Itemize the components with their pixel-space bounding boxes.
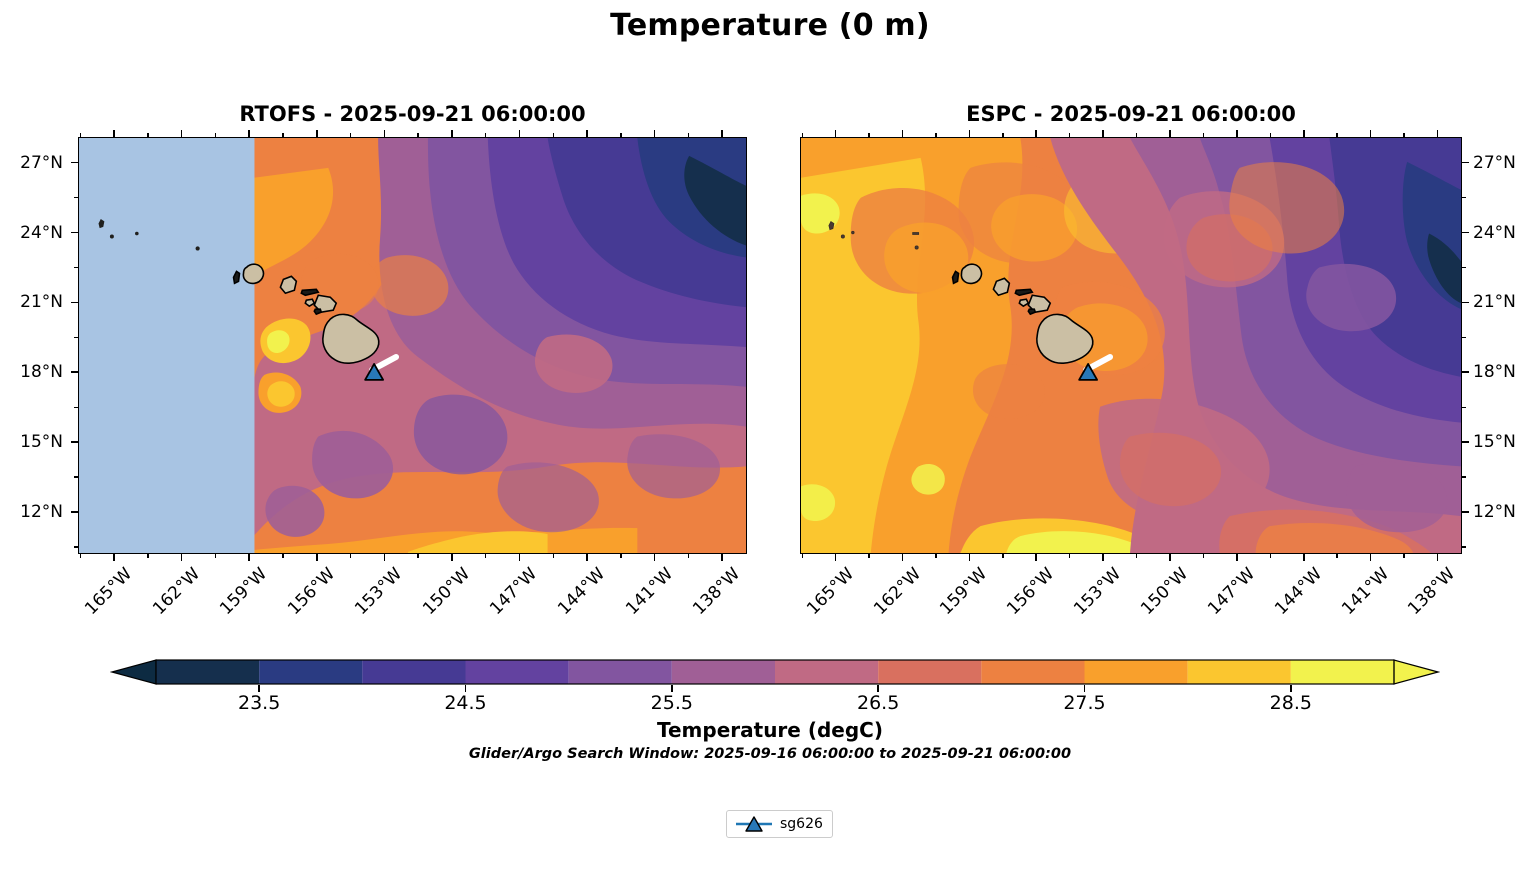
colorbar-extend-max: [1394, 660, 1438, 684]
xtick-minor-top-rtofs: [485, 133, 486, 137]
ytick-label-rtofs-4: 15°N: [0, 432, 63, 452]
panel-title-rtofs: RTOFS - 2025-09-21 06:00:00: [78, 102, 747, 126]
ytick-label-espc-5: 12°N: [1473, 502, 1540, 522]
xtick-minor-bottom-rtofs: [147, 554, 148, 558]
xtick-minor-top-rtofs: [417, 133, 418, 137]
xtick-minor-bottom-espc: [1203, 554, 1204, 558]
colorbar-tick-3: [877, 685, 879, 692]
xtick-minor-top-espc: [1270, 133, 1271, 137]
xtick-major-bottom-rtofs-2: [248, 554, 250, 561]
ytick-major-espc-2: [1462, 302, 1469, 304]
xtick-minor-bottom-rtofs: [215, 554, 216, 558]
colorbar-band-1: [259, 660, 362, 684]
xtick-minor-bottom-rtofs: [282, 554, 283, 558]
xtick-major-bottom-espc-1: [902, 554, 904, 561]
xtick-minor-bottom-espc: [868, 554, 869, 558]
colorbar-tick-label-0: 23.5: [238, 692, 280, 714]
xtick-major-bottom-espc-7: [1303, 554, 1305, 561]
ytick-major-espc-5: [1462, 511, 1469, 513]
ytick-major-rtofs-4: [71, 441, 78, 443]
xtick-minor-bottom-espc: [802, 554, 803, 558]
ytick-label-espc-0: 27°N: [1473, 153, 1540, 173]
xtick-major-bottom-espc-4: [1102, 554, 1104, 561]
xtick-minor-bottom-rtofs: [80, 554, 81, 558]
xtick-major-bottom-espc-6: [1236, 554, 1238, 561]
legend[interactable]: sg626: [726, 810, 833, 838]
ytick-major-rtofs-3: [71, 371, 78, 373]
xtick-minor-bottom-rtofs: [688, 554, 689, 558]
xtick-major-bottom-espc-5: [1169, 554, 1171, 561]
ytick-minor-espc: [1462, 197, 1466, 198]
ytick-minor-rtofs: [74, 407, 78, 408]
xtick-major-top-espc-7: [1303, 130, 1305, 137]
xtick-major-bottom-espc-0: [835, 554, 837, 561]
colorbar-extend-min: [112, 660, 156, 684]
xtick-minor-bottom-rtofs: [620, 554, 621, 558]
xtick-major-top-rtofs-0: [113, 130, 115, 137]
xtick-minor-top-espc: [1203, 133, 1204, 137]
colorbar-band-8: [981, 660, 1084, 684]
ytick-label-rtofs-5: 12°N: [0, 502, 63, 522]
ytick-label-rtofs-0: 27°N: [0, 153, 63, 173]
xtick-minor-top-espc: [868, 133, 869, 137]
xtick-minor-bottom-espc: [1069, 554, 1070, 558]
colorbar-tick-5: [1290, 685, 1292, 692]
xtick-major-top-espc-2: [969, 130, 971, 137]
xtick-major-top-espc-5: [1169, 130, 1171, 137]
xtick-minor-top-rtofs: [282, 133, 283, 137]
xtick-major-top-espc-0: [835, 130, 837, 137]
colorbar[interactable]: [110, 659, 1440, 685]
ytick-minor-espc: [1462, 476, 1466, 477]
xtick-major-bottom-espc-3: [1035, 554, 1037, 561]
xtick-major-bottom-rtofs-3: [316, 554, 318, 561]
ytick-minor-espc: [1462, 546, 1466, 547]
legend-label-sg626: sg626: [780, 816, 823, 832]
xtick-major-top-espc-4: [1102, 130, 1104, 137]
xtick-major-top-espc-8: [1370, 130, 1372, 137]
xtick-major-top-rtofs-8: [654, 130, 656, 137]
xtick-major-top-espc-6: [1236, 130, 1238, 137]
colorbar-tick-4: [1084, 685, 1086, 692]
xtick-minor-bottom-rtofs: [417, 554, 418, 558]
xtick-minor-top-rtofs: [350, 133, 351, 137]
colorbar-band-4: [569, 660, 672, 684]
colorbar-band-7: [878, 660, 981, 684]
xtick-minor-top-rtofs: [215, 133, 216, 137]
xtick-minor-bottom-rtofs: [485, 554, 486, 558]
figure-canvas: Temperature (0 m) RTOFS - 2025-09-21 06:…: [0, 0, 1540, 889]
xtick-minor-bottom-rtofs: [553, 554, 554, 558]
xtick-minor-top-espc: [802, 133, 803, 137]
xtick-minor-top-espc: [1403, 133, 1404, 137]
ytick-minor-espc: [1462, 267, 1466, 268]
colorbar-tick-label-5: 28.5: [1270, 692, 1312, 714]
ytick-label-espc-3: 18°N: [1473, 362, 1540, 382]
xtick-minor-bottom-rtofs: [350, 554, 351, 558]
xtick-major-top-rtofs-3: [316, 130, 318, 137]
search-window-text: Glider/Argo Search Window: 2025-09-16 06…: [0, 746, 1540, 762]
ytick-major-espc-3: [1462, 371, 1469, 373]
colorbar-tick-label-4: 27.5: [1063, 692, 1105, 714]
xtick-major-top-rtofs-9: [721, 130, 723, 137]
xtick-minor-bottom-espc: [1336, 554, 1337, 558]
xtick-minor-top-rtofs: [620, 133, 621, 137]
xtick-minor-bottom-espc: [1002, 554, 1003, 558]
ytick-label-rtofs-3: 18°N: [0, 362, 63, 382]
xtick-minor-bottom-espc: [1136, 554, 1137, 558]
xtick-major-top-rtofs-5: [451, 130, 453, 137]
xtick-major-top-rtofs-1: [181, 130, 183, 137]
ytick-label-espc-4: 15°N: [1473, 432, 1540, 452]
colorbar-svg: [110, 659, 1440, 685]
panel-title-espc: ESPC - 2025-09-21 06:00:00: [800, 102, 1462, 126]
colorbar-band-5: [672, 660, 775, 684]
ytick-minor-rtofs: [74, 546, 78, 547]
rtofs-temperature-field: [79, 138, 746, 553]
colorbar-tick-label-1: 24.5: [444, 692, 486, 714]
ytick-label-espc-2: 21°N: [1473, 292, 1540, 312]
xtick-major-top-rtofs-6: [519, 130, 521, 137]
rtofs-map-svg: [79, 138, 746, 553]
ytick-minor-espc: [1462, 407, 1466, 408]
xtick-minor-bottom-espc: [1403, 554, 1404, 558]
xtick-minor-top-rtofs: [147, 133, 148, 137]
xtick-minor-top-rtofs: [553, 133, 554, 137]
xtick-minor-top-espc: [935, 133, 936, 137]
xtick-major-bottom-rtofs-6: [519, 554, 521, 561]
ytick-major-rtofs-2: [71, 302, 78, 304]
ytick-label-rtofs-2: 21°N: [0, 292, 63, 312]
xtick-major-bottom-rtofs-4: [384, 554, 386, 561]
page-title: Temperature (0 m): [0, 8, 1540, 43]
map-panel-rtofs[interactable]: [78, 137, 747, 554]
xtick-major-top-rtofs-7: [586, 130, 588, 137]
ytick-major-rtofs-5: [71, 511, 78, 513]
xtick-minor-top-espc: [1336, 133, 1337, 137]
espc-temperature-field: [801, 138, 1461, 553]
xtick-major-top-espc-3: [1035, 130, 1037, 137]
ytick-minor-rtofs: [74, 337, 78, 338]
xtick-major-bottom-espc-2: [969, 554, 971, 561]
xtick-major-bottom-rtofs-8: [654, 554, 656, 561]
xtick-major-top-rtofs-4: [384, 130, 386, 137]
ytick-major-espc-4: [1462, 441, 1469, 443]
colorbar-band-2: [362, 660, 465, 684]
xtick-major-bottom-espc-8: [1370, 554, 1372, 561]
ytick-major-espc-1: [1462, 232, 1469, 234]
colorbar-band-6: [775, 660, 878, 684]
ytick-major-rtofs-1: [71, 232, 78, 234]
xtick-minor-bottom-espc: [935, 554, 936, 558]
xtick-major-top-rtofs-2: [248, 130, 250, 137]
xtick-major-bottom-espc-9: [1437, 554, 1439, 561]
ytick-label-rtofs-1: 24°N: [0, 223, 63, 243]
xtick-minor-top-rtofs: [80, 133, 81, 137]
xtick-major-bottom-rtofs-1: [181, 554, 183, 561]
colorbar-label: Temperature (degC): [0, 718, 1540, 742]
xtick-minor-bottom-espc: [1270, 554, 1271, 558]
map-panel-espc[interactable]: [800, 137, 1462, 554]
colorbar-tick-0: [258, 685, 260, 692]
ytick-label-espc-1: 24°N: [1473, 223, 1540, 243]
colorbar-tick-2: [671, 685, 673, 692]
xtick-minor-top-rtofs: [688, 133, 689, 137]
xtick-major-top-espc-1: [902, 130, 904, 137]
ytick-minor-rtofs: [74, 476, 78, 477]
xtick-minor-top-espc: [1136, 133, 1137, 137]
colorbar-tick-label-3: 26.5: [857, 692, 899, 714]
colorbar-band-11: [1291, 660, 1394, 684]
xtick-major-bottom-rtofs-0: [113, 554, 115, 561]
colorbar-band-10: [1188, 660, 1291, 684]
ytick-major-rtofs-0: [71, 162, 78, 164]
xtick-minor-top-espc: [1069, 133, 1070, 137]
ytick-major-espc-0: [1462, 162, 1469, 164]
colorbar-band-0: [156, 660, 259, 684]
rtofs-nodata-region: [79, 138, 254, 553]
xtick-minor-top-espc: [1002, 133, 1003, 137]
xtick-major-top-espc-9: [1437, 130, 1439, 137]
legend-marker-sg626: [734, 815, 774, 833]
colorbar-tick-label-2: 25.5: [651, 692, 693, 714]
colorbar-band-9: [1085, 660, 1188, 684]
ytick-minor-rtofs: [74, 197, 78, 198]
colorbar-band-3: [466, 660, 569, 684]
ytick-minor-espc: [1462, 337, 1466, 338]
espc-map-svg: [801, 138, 1461, 553]
ytick-minor-rtofs: [74, 267, 78, 268]
xtick-major-bottom-rtofs-7: [586, 554, 588, 561]
xtick-major-bottom-rtofs-5: [451, 554, 453, 561]
xtick-major-bottom-rtofs-9: [721, 554, 723, 561]
colorbar-tick-1: [465, 685, 467, 692]
